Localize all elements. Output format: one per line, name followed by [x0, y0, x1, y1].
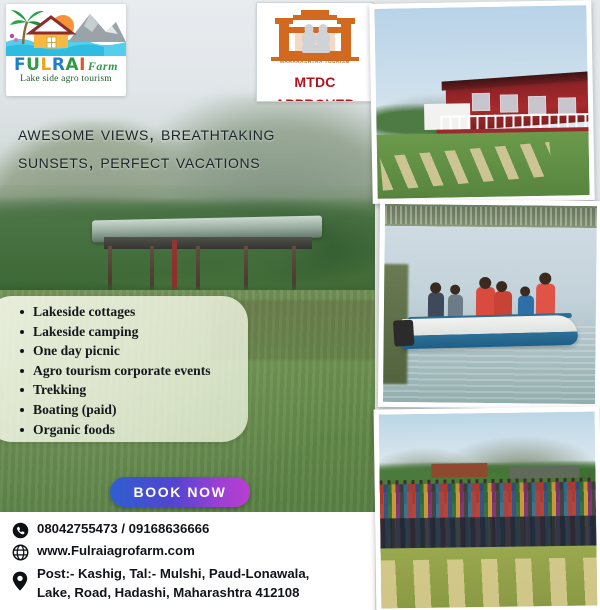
- flyer-poster: FULRAIFarm Lake side agro tourism: [0, 0, 600, 610]
- boating-person-head: [479, 277, 491, 289]
- list-item: Boating (paid): [16, 400, 266, 420]
- page-title: Awesome Views, Breathtaking Sunsets, Per…: [18, 120, 363, 176]
- brand-sub-name: Farm: [88, 59, 118, 73]
- photo-group-event: [374, 406, 600, 610]
- contact-website-value: www.Fulraiagrofarm.com: [37, 542, 195, 560]
- globe-icon: [10, 542, 30, 562]
- brand-name: FULRAIFarm: [6, 54, 126, 76]
- boating-person-lifejacket: [536, 283, 555, 315]
- mtdc-approved-badge: MAHARASHTRA TOURISM MTDC APPROVED: [256, 2, 374, 102]
- boating-person-head: [539, 273, 551, 285]
- boating-person-head: [450, 285, 460, 295]
- list-item: One day picnic: [16, 341, 266, 361]
- list-item: Lakeside cottages: [16, 302, 266, 322]
- contact-strip: 08042755473 / 09168636666 www.Fulraiagro…: [0, 512, 375, 610]
- address-line-2: Lake, Road, Hadashi, Maharashtra 412108: [37, 585, 299, 600]
- phone-icon: [10, 520, 30, 540]
- contact-phone-value: 08042755473 / 09168636666: [37, 520, 209, 538]
- features-list: Lakeside cottages Lakeside camping One d…: [16, 302, 266, 439]
- photo-red-cottages: [369, 0, 594, 204]
- pavilion-frame: [104, 237, 312, 249]
- list-item: Organic foods: [16, 420, 266, 440]
- boating-person: [428, 292, 444, 318]
- list-item: Lakeside camping: [16, 322, 266, 342]
- contact-address-row[interactable]: Post:- Kashig, Tal:- Mulshi, Paud-Lonawa…: [10, 564, 367, 602]
- book-now-button[interactable]: BOOK NOW: [110, 477, 250, 507]
- list-item: Agro tourism corporate events: [16, 361, 266, 381]
- boating-hull: [401, 315, 578, 349]
- boating-outboard-motor: [393, 320, 415, 347]
- location-pin-icon: [10, 571, 30, 591]
- maharashtra-tourism-gateway-icon: [257, 7, 373, 65]
- boating-person-head: [496, 281, 507, 292]
- headline-line-1: Awesome Views, Breathtaking: [18, 120, 363, 148]
- boating-person-lifejacket: [476, 287, 495, 317]
- badge-label: MTDC APPROVED: [257, 71, 373, 102]
- contact-phone-row[interactable]: 08042755473 / 09168636666: [10, 520, 209, 540]
- brand-logo: FULRAIFarm Lake side agro tourism: [6, 4, 126, 96]
- group-stone-tiles: [381, 557, 598, 608]
- brand-tagline: Lake side agro tourism: [6, 74, 126, 84]
- cottages-window: [500, 94, 518, 112]
- photo-column: [375, 0, 600, 610]
- address-line-1: Post:- Kashig, Tal:- Mulshi, Paud-Lonawa…: [37, 566, 309, 581]
- headline-line-2: Sunsets, Perfect Vacations: [18, 148, 363, 176]
- contact-address-value: Post:- Kashig, Tal:- Mulshi, Paud-Lonawa…: [37, 564, 367, 602]
- boating-person-head: [430, 282, 441, 293]
- photo-boating: [378, 199, 600, 409]
- cottages-window: [472, 93, 490, 111]
- group-shed-roof: [431, 463, 487, 478]
- farm-lake-logo-icon: [6, 6, 126, 56]
- cottages-window: [528, 96, 546, 114]
- badge-org-text: MAHARASHTRA TOURISM: [257, 59, 373, 64]
- group-canopy: [509, 466, 579, 479]
- list-item: Trekking: [16, 380, 266, 400]
- contact-website-row[interactable]: www.Fulraiagrofarm.com: [10, 542, 195, 562]
- boating-person-head: [520, 286, 530, 296]
- boating-far-shore-texture: [385, 206, 597, 226]
